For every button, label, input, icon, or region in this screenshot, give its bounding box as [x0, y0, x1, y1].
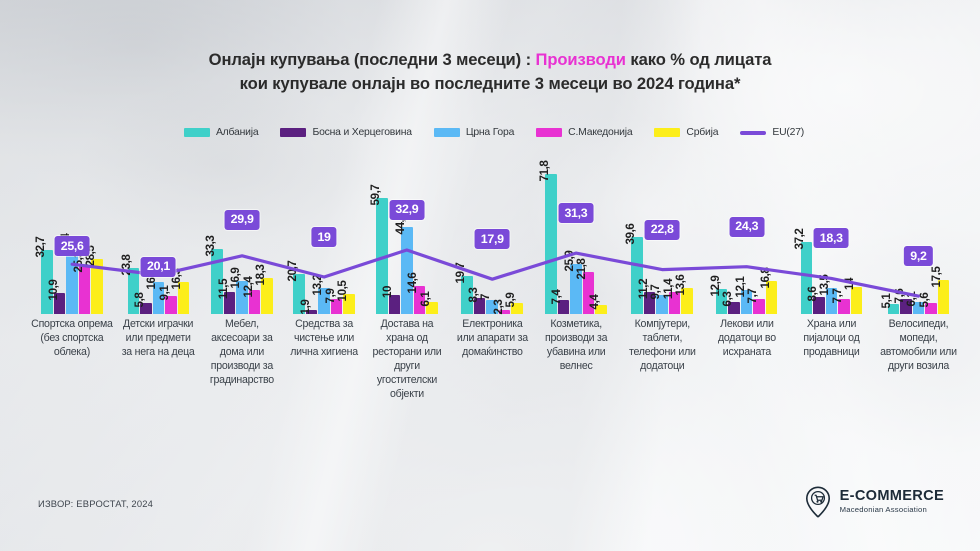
eu-value-badge-10: 18,3: [814, 228, 849, 248]
eu-value-badge-3: 29,9: [225, 210, 260, 230]
eu-value-badge-9: 24,3: [729, 217, 764, 237]
chart-title-highlight: Производи: [536, 50, 626, 69]
x-axis-label-1: Спортска опрема (без спортска облека): [26, 317, 118, 401]
eu-value-badge-5: 32,9: [389, 200, 424, 220]
chart-title-line1: Онлајн купувања (последни 3 месеци) : Пр…: [209, 50, 772, 69]
ecommerce-association-logo: E-COMMERCE Macedonian Association: [805, 485, 944, 518]
x-axis-label-3: Мебел, аксесоари за дома или производи з…: [198, 317, 285, 401]
legend-swatch-2: [280, 128, 306, 137]
legend-label-4: С.Македонија: [568, 127, 632, 138]
eu-value-badge-8: 22,8: [645, 220, 680, 240]
chart-legend: АлбанијаБосна и ХерцеговинаЦрна ГораС.Ма…: [0, 127, 980, 138]
x-axis-label-5: Достава на храна од ресторани или други …: [363, 317, 452, 401]
legend-label-3: Црна Гора: [466, 127, 514, 138]
x-axis-label-8: Компјутери, таблети, телефони или додато…: [619, 317, 706, 401]
chart-title-part-2: како % од лицата: [626, 50, 771, 69]
eu-value-badge-1: 25,6: [55, 236, 90, 256]
eu-value-badge-7: 31,3: [558, 203, 593, 223]
eu-value-badge-6: 17,9: [475, 229, 510, 249]
legend-label-5: Србија: [686, 127, 718, 138]
legend-item-5[interactable]: Србија: [654, 127, 718, 138]
legend-swatch-6: [740, 131, 766, 135]
legend-item-3[interactable]: Црна Гора: [434, 127, 514, 138]
x-axis-labels: Спортска опрема (без спортска облека)Дет…: [26, 317, 962, 401]
eu-value-badge-2: 20,1: [141, 257, 176, 277]
legend-item-6[interactable]: EU(27): [740, 127, 804, 138]
pin-cart-icon: [805, 485, 832, 518]
logo-subtitle-text: Macedonian Association: [840, 506, 944, 514]
chart-title: Онлајн купувања (последни 3 месеци) : Пр…: [0, 48, 980, 95]
legend-swatch-4: [536, 128, 562, 137]
eu-value-badge-11: 9,2: [904, 246, 932, 266]
legend-label-1: Албанија: [216, 127, 259, 138]
chart-title-part-1: Онлајн купувања (последни 3 месеци) :: [209, 50, 536, 69]
x-axis-label-6: Електроника или апарати за домаќинство: [451, 317, 533, 401]
legend-item-2[interactable]: Босна и Херцеговина: [280, 127, 411, 138]
eu-value-badge-4: 19: [311, 227, 336, 247]
legend-label-2: Босна и Херцеговина: [312, 127, 411, 138]
logo-brand-text: E-COMMERCE: [840, 489, 944, 504]
x-axis-label-9: Лекови или додатоци во исхраната: [706, 317, 788, 401]
chart-title-line2: кои купувале онлајн во последните 3 месе…: [240, 74, 741, 93]
x-axis-label-2: Детски играчки или предмети за нега на д…: [118, 317, 199, 401]
legend-swatch-5: [654, 128, 680, 137]
legend-label-6: EU(27): [772, 127, 804, 138]
legend-item-1[interactable]: Албанија: [184, 127, 259, 138]
eu-value-labels: 25,620,129,91932,917,931,322,824,318,39,…: [26, 170, 962, 314]
legend-item-4[interactable]: С.Македонија: [536, 127, 632, 138]
x-axis-label-7: Козметика, производи за убавина или велн…: [533, 317, 618, 401]
legend-swatch-3: [434, 128, 460, 137]
x-axis-label-11: Велосипеди, мопеди, автомобили или други…: [875, 317, 962, 401]
x-axis-label-4: Средства за чистење или лична хигиена: [285, 317, 362, 401]
source-note: ИЗВОР: ЕВРОСТАТ, 2024: [38, 498, 153, 509]
legend-swatch-1: [184, 128, 210, 137]
x-axis-label-10: Храна или пијалоци од продавници: [788, 317, 875, 401]
